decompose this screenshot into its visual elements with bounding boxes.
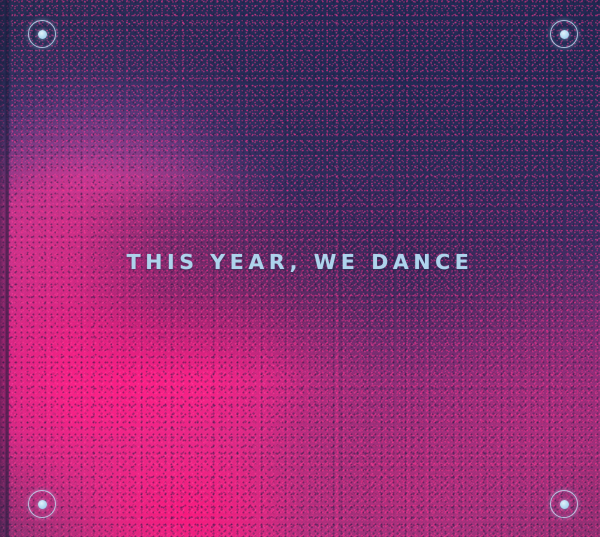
ring-dot-grommet-icon-top-right xyxy=(550,20,578,48)
ring-dot-grommet-icon-bottom-left xyxy=(28,490,56,518)
ring-dot-grommet-icon-bottom-right xyxy=(550,490,578,518)
album-title: THIS YEAR, WE DANCE xyxy=(0,252,600,273)
grommet-center-dot xyxy=(38,30,47,39)
album-cover-artwork: THIS YEAR, WE DANCE xyxy=(0,0,600,537)
grommet-center-dot xyxy=(560,30,569,39)
ring-dot-grommet-icon-top-left xyxy=(28,20,56,48)
grommet-center-dot xyxy=(38,500,47,509)
grommet-center-dot xyxy=(560,500,569,509)
